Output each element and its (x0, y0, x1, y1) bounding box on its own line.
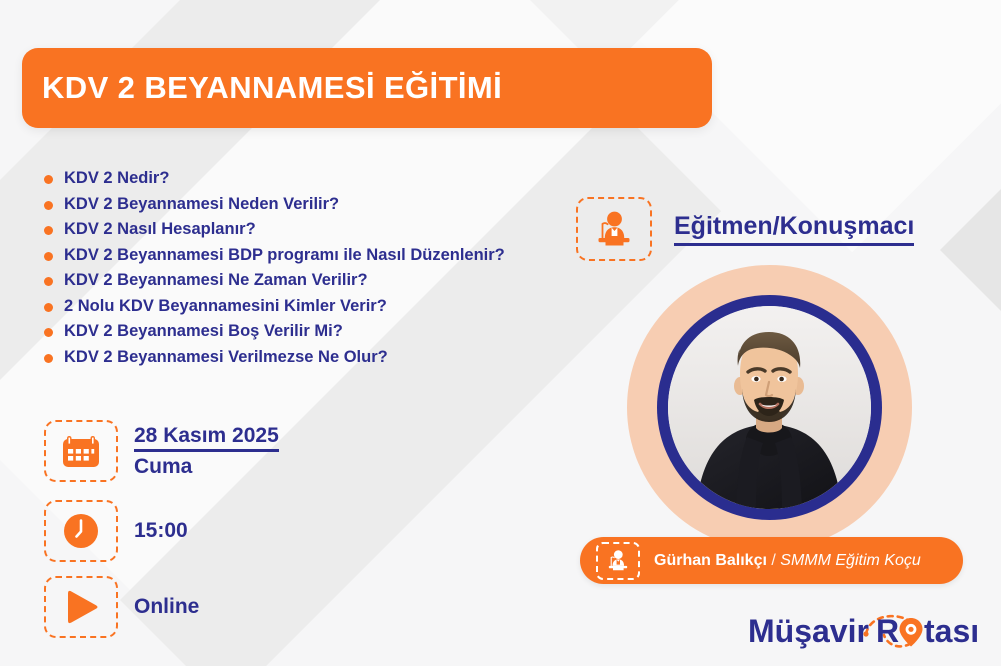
bullet-icon (44, 303, 53, 312)
map-pin-icon (900, 618, 923, 647)
speaker-badge-text: Gürhan Balıkçı / SMMM Eğitim Koçu (654, 552, 921, 570)
event-mode-text: Online (134, 595, 199, 619)
event-day-value: Cuma (134, 454, 279, 480)
list-item: KDV 2 Nasıl Hesaplanır? (44, 219, 584, 239)
topic-label: KDV 2 Beyannamesi Neden Verilir? (64, 194, 339, 214)
logo-word-one: Müşavir (748, 613, 869, 649)
speaker-name: Gürhan Balıkçı (654, 552, 767, 569)
event-mode-row: Online (44, 576, 199, 638)
page-title: KDV 2 BEYANNAMESİ EĞİTİMİ (22, 70, 502, 106)
bullet-icon (44, 226, 53, 235)
speaker-podium-icon (576, 197, 652, 261)
list-item: KDV 2 Beyannamesi Ne Zaman Verilir? (44, 270, 584, 290)
title-banner: KDV 2 BEYANNAMESİ EĞİTİMİ (22, 48, 712, 128)
play-icon (44, 576, 118, 638)
list-item: KDV 2 Beyannamesi Verilmezse Ne Olur? (44, 347, 584, 367)
bullet-icon (44, 328, 53, 337)
event-time-value: 15:00 (134, 519, 188, 542)
speaker-portrait (627, 265, 912, 550)
speaker-role: SMMM Eğitim Koçu (780, 552, 920, 569)
list-item: KDV 2 Beyannamesi BDP programı ile Nasıl… (44, 245, 584, 265)
list-item: 2 Nolu KDV Beyannamesini Kimler Verir? (44, 296, 584, 316)
speaker-separator: / (767, 552, 780, 569)
topic-list: KDV 2 Nedir? KDV 2 Beyannamesi Neden Ver… (44, 168, 584, 372)
event-date-row: 28 Kasım 2025 Cuma (44, 420, 279, 482)
bullet-icon (44, 252, 53, 261)
clock-icon (44, 500, 118, 562)
bullet-icon (44, 175, 53, 184)
list-item: KDV 2 Beyannamesi Boş Verilir Mi? (44, 321, 584, 341)
event-poster: KDV 2 BEYANNAMESİ EĞİTİMİ KDV 2 Nedir? K… (0, 0, 1001, 666)
brand-logo[interactable]: Müşavir R tası (748, 608, 978, 654)
list-item: KDV 2 Nedir? (44, 168, 584, 188)
speaker-header: Eğitmen/Konuşmacı (576, 197, 914, 261)
bullet-icon (44, 201, 53, 210)
bullet-icon (44, 277, 53, 286)
topic-label: KDV 2 Nedir? (64, 168, 169, 188)
logo-word-two-suffix: tası (924, 613, 978, 649)
avatar (668, 306, 871, 509)
topic-label: KDV 2 Beyannamesi BDP programı ile Nasıl… (64, 245, 505, 265)
bullet-icon (44, 354, 53, 363)
list-item: KDV 2 Beyannamesi Neden Verilir? (44, 194, 584, 214)
topic-label: KDV 2 Beyannamesi Ne Zaman Verilir? (64, 270, 368, 290)
topic-label: KDV 2 Nasıl Hesaplanır? (64, 219, 256, 239)
event-date-value: 28 Kasım 2025 (134, 423, 279, 452)
event-time-row: 15:00 (44, 500, 188, 562)
speaker-name-badge: Gürhan Balıkçı / SMMM Eğitim Koçu (580, 537, 963, 584)
event-date-text: 28 Kasım 2025 Cuma (134, 423, 279, 480)
topic-label: KDV 2 Beyannamesi Verilmezse Ne Olur? (64, 347, 388, 367)
calendar-icon (44, 420, 118, 482)
topic-label: KDV 2 Beyannamesi Boş Verilir Mi? (64, 321, 343, 341)
event-mode-value: Online (134, 595, 199, 618)
event-time-text: 15:00 (134, 519, 188, 543)
topic-label: 2 Nolu KDV Beyannamesini Kimler Verir? (64, 296, 387, 316)
logo-word-two-prefix: R (876, 613, 899, 649)
speaker-section-title: Eğitmen/Konuşmacı (674, 212, 914, 246)
speaker-podium-icon (596, 542, 640, 580)
